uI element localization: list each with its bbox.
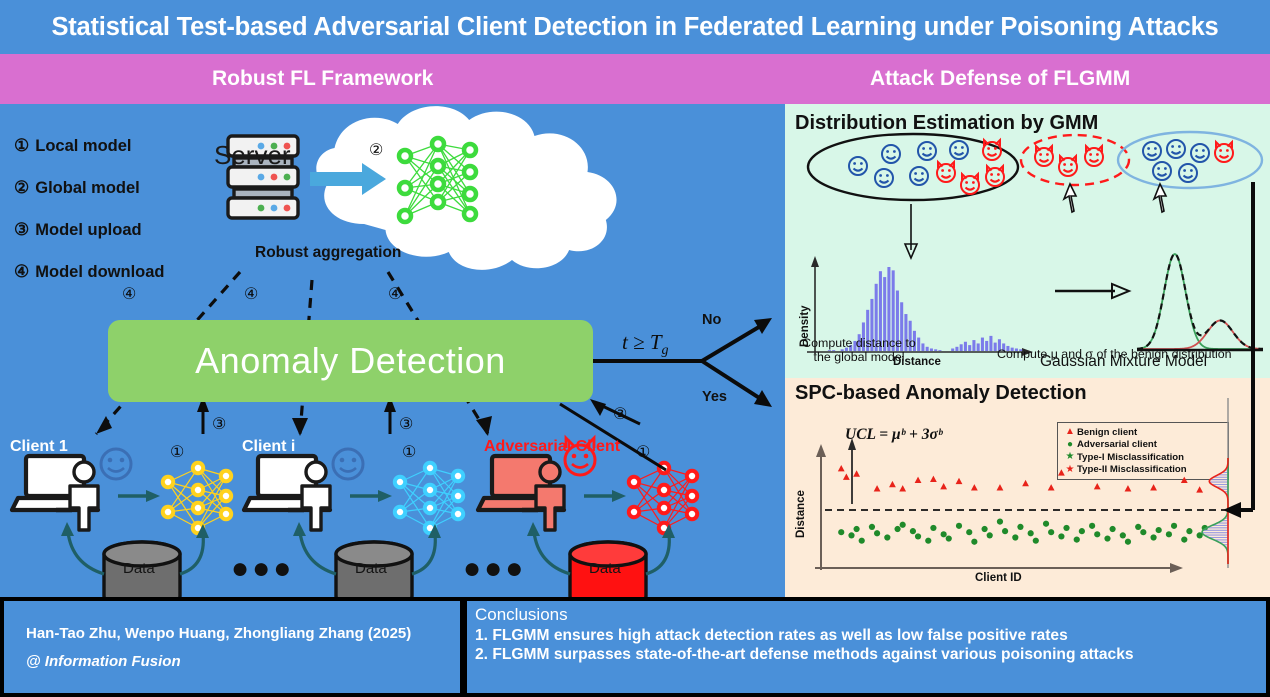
authors-box: Han-Tao Zhu, Wenpo Huang, Zhongliang Zha…: [4, 601, 460, 693]
legend-label-3: Model upload: [35, 221, 141, 239]
spc-legend-row-type2: ★ Type-II Misclassification: [1063, 464, 1223, 477]
local-train-arrowhead-3: [612, 490, 626, 502]
adversarial-client-marker-icon: ●: [1063, 440, 1077, 450]
ucl-formula: UCL = μᵇ + 3σᵇ: [845, 426, 942, 444]
legend-num-3: ③: [14, 220, 29, 239]
spc-legend-row-benign: ▲ Benign client: [1063, 426, 1223, 439]
person-icon-2: [288, 462, 330, 530]
spc-legend: ▲ Benign client ● Adversarial client ★ T…: [1057, 422, 1229, 480]
conclusions-box: Conclusions 1. FLGMM ensures high attack…: [467, 601, 1266, 693]
data-label-3: Data: [589, 560, 621, 577]
adversarial-cluster-ellipse: [1021, 135, 1129, 185]
adversarial-client-label: Adversarial Client: [484, 438, 620, 456]
conclusions-title: Conclusions: [475, 605, 1266, 625]
legend-item-model-upload: ③Model upload: [14, 220, 165, 240]
title-band: Statistical Test-based Adversarial Clien…: [0, 0, 1270, 54]
mixed-benign-faces: [849, 141, 968, 187]
authors-line: Han-Tao Zhu, Wenpo Huang, Zhongliang Zha…: [26, 625, 460, 642]
model-upload-arrows: [203, 402, 640, 434]
local-model-nodes-1: [163, 463, 231, 533]
laptop-icon-2: [244, 456, 330, 510]
anomaly-detection-box[interactable]: Anomaly Detection: [108, 320, 593, 402]
smiley-icon-1: [101, 449, 131, 479]
benign-cluster-devil-face: [1215, 142, 1233, 162]
right-section-header: Attack Defense of FLGMM: [870, 67, 1130, 91]
histogram-y-axis-label: Density: [799, 305, 811, 347]
model-download-arrowheads: [96, 416, 492, 436]
legend-num-2: ②: [14, 178, 29, 197]
local-model-network-1: [168, 468, 226, 528]
spc-section: SPC-based Anomaly Detection UCL = μᵇ + 3…: [785, 378, 1270, 597]
upload-marker-2: ③: [399, 414, 413, 434]
page-title: Statistical Test-based Adversarial Clien…: [51, 13, 1218, 42]
robust-aggregation-label: Robust aggregation: [255, 244, 401, 262]
local-model-nodes-2: [395, 463, 463, 533]
feedback-arrow-bottom: [1237, 378, 1253, 510]
spc-section-title: SPC-based Anomaly Detection: [795, 382, 1087, 405]
download-marker-3: ④: [388, 284, 402, 304]
decision-branch: [593, 324, 764, 401]
aggregation-arrow-icon: [310, 163, 386, 195]
data-label-1: Data: [123, 560, 155, 577]
legend-item-local-model: ①Local model: [14, 136, 165, 156]
gmm-section-title: Distribution Estimation by GMM: [795, 112, 1098, 135]
legend-label-4: Model download: [35, 263, 164, 281]
legend-item-global-model: ②Global model: [14, 178, 165, 198]
download-marker-1: ④: [122, 284, 136, 304]
ellipsis-1: ●●●: [231, 554, 294, 584]
histogram-x-axis-label: Distance: [893, 356, 941, 368]
spc-legend-label-benign: Benign client: [1077, 427, 1137, 438]
legend-label-2: Global model: [35, 179, 140, 197]
type-i-misclassification-marker-icon: ★: [1063, 452, 1077, 462]
local-model-network-2: [400, 468, 458, 528]
threshold-formula: t ≥ Tg: [622, 330, 669, 359]
anomaly-detection-label: Anomaly Detection: [195, 340, 506, 382]
global-model-network-icon: [405, 144, 470, 216]
person-icon-1: [56, 462, 98, 530]
smiley-icon-2: [333, 449, 363, 479]
local-model-network-3: [634, 468, 692, 528]
spc-legend-label-type1: Type-I Misclassification: [1077, 452, 1184, 463]
decision-branch-arrowheads: [754, 318, 772, 407]
person-icon-3: [522, 462, 564, 530]
spc-legend-label-type2: Type-II Misclassification: [1077, 464, 1187, 475]
gmm-section: Distribution Estimation by GMM: [785, 104, 1270, 378]
type-ii-misclassification-marker-icon: ★: [1063, 465, 1077, 475]
upload-marker-3: ③: [613, 404, 627, 424]
client-1-label: Client 1: [10, 438, 68, 456]
client-i-label: Client i: [242, 438, 295, 456]
data-label-2: Data: [355, 560, 387, 577]
spc-y-axis-label: Distance: [795, 490, 807, 538]
spc-control-chart: [785, 378, 1270, 597]
mixed-adversarial-faces: [937, 140, 1004, 194]
adversarial-cluster-faces: [1035, 146, 1103, 176]
mixed-population-ellipse: [808, 134, 1018, 200]
laptop-icon-3: [478, 456, 564, 510]
server-label: Server: [214, 140, 291, 171]
section-header-band: Robust FL Framework Attack Defense of FL…: [0, 54, 1270, 104]
branch-label-no: No: [702, 312, 721, 328]
graphical-abstract: Statistical Test-based Adversarial Clien…: [0, 0, 1270, 697]
conclusion-item-2: 2. FLGMM surpasses state-of-the-art defe…: [475, 646, 1266, 664]
legend-num-1: ①: [14, 136, 29, 155]
threshold-formula-main: t ≥ T: [622, 330, 662, 354]
legend-label-1: Local model: [35, 137, 131, 155]
spc-legend-label-adversarial: Adversarial client: [1077, 439, 1157, 450]
legend-num-4: ④: [14, 262, 29, 281]
local-train-arrowhead-2: [378, 490, 392, 502]
client-1-group: [12, 449, 231, 597]
threshold-formula-sub: g: [662, 343, 669, 358]
benign-cluster-faces: [1143, 140, 1209, 182]
left-section-header: Robust FL Framework: [212, 67, 433, 91]
gmm-curves: [1137, 254, 1263, 350]
branch-label-yes: Yes: [702, 389, 727, 405]
legend-item-model-download: ④Model download: [14, 262, 165, 282]
global-model-nodes: [399, 138, 476, 222]
upload-marker-1: ③: [212, 414, 226, 434]
laptop-icon-1: [12, 456, 98, 510]
spc-legend-row-type1: ★ Type-I Misclassification: [1063, 451, 1223, 464]
spc-adversarial-points: [838, 519, 1208, 545]
venue-line: @ Information Fusion: [26, 653, 460, 670]
global-model-marker: ②: [369, 140, 383, 160]
legend-list: ①Local model ②Global model ③Model upload…: [14, 136, 165, 304]
local-model-nodes-3: [629, 463, 697, 533]
benign-client-marker-icon: ▲: [1063, 427, 1077, 437]
conclusion-item-1: 1. FLGMM ensures high attack detection r…: [475, 627, 1266, 645]
local-marker-2: ①: [402, 442, 416, 462]
download-marker-2: ④: [244, 284, 258, 304]
cluster-pointer-arrows: [1064, 184, 1166, 212]
robust-fl-framework-panel: ①Local model ②Global model ③Model upload…: [0, 104, 785, 597]
attack-defense-panel: Distribution Estimation by GMM: [785, 104, 1270, 597]
local-train-arrowhead-1: [146, 490, 160, 502]
local-marker-1: ①: [170, 442, 184, 462]
ellipsis-2: ●●●: [463, 554, 526, 584]
local-marker-3: ①: [636, 442, 650, 462]
spc-legend-row-adversarial: ● Adversarial client: [1063, 439, 1223, 452]
gaussian-mixture-model-label: Gaussian Mixture Model: [1040, 353, 1207, 371]
benign-cluster-ellipse: [1118, 132, 1262, 188]
spc-x-axis-label: Client ID: [975, 572, 1022, 584]
